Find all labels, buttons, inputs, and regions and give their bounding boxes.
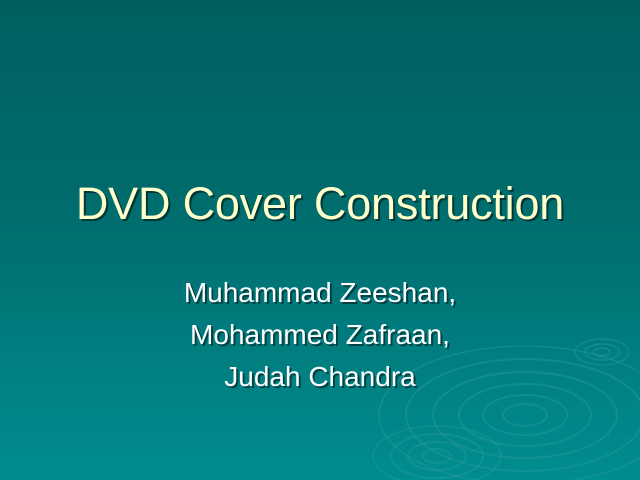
subtitle-block: Muhammad Zeeshan, Mohammed Zafraan, Juda… — [0, 272, 640, 398]
page-title: DVD Cover Construction — [0, 178, 640, 230]
water-ripple-medium — [373, 426, 501, 480]
presentation-slide: DVD Cover Construction Muhammad Zeeshan,… — [0, 0, 640, 480]
subtitle-line-3: Judah Chandra — [0, 356, 640, 398]
subtitle-line-1: Muhammad Zeeshan, — [0, 272, 640, 314]
water-ripple-decoration — [0, 0, 640, 480]
title-block: DVD Cover Construction — [0, 178, 640, 230]
subtitle-line-2: Mohammed Zafraan, — [0, 314, 640, 356]
